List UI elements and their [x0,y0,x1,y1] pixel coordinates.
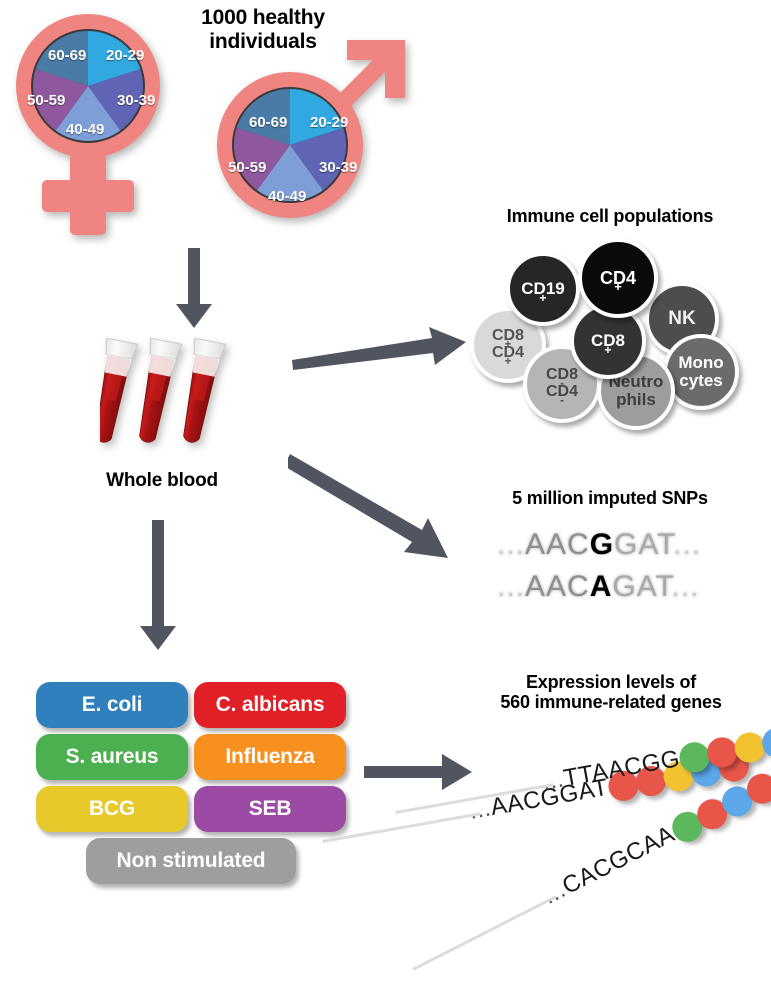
expression-bead [732,730,767,765]
immune-cell-label: CD8-CD4- [546,367,578,400]
immune-cell-label: CD8+ [591,332,625,350]
immune-cell-monocytes[interactable]: Monocytes [663,334,739,410]
expression-strand-sequence: ...CACGCAA [539,820,679,909]
expression-strand-panel: ...TTAACGG...AACGGAT...CACGCAA [0,0,771,922]
immune-cell-label: CD19+ [521,280,564,298]
immune-cell-label: Neutrophils [609,373,664,408]
figure-canvas: 20-29 30-39 40-49 50-59 60-69 20-29 30-3… [0,0,771,922]
immune-cell-cd4[interactable]: CD4+ [578,238,658,318]
immune-cell-label: CD8+CD4+ [492,328,524,361]
expression-bead [705,735,740,770]
strand-backbone [322,812,480,843]
immune-cell-label: Monocytes [678,354,723,389]
immune-cell-label: NK [668,309,695,329]
expression-bead-group [678,722,771,776]
strand-backbone [412,895,556,970]
immune-cell-cd19[interactable]: CD19+ [506,252,580,326]
immune-cell-label: CD4+ [600,269,636,288]
expression-bead [677,740,712,775]
